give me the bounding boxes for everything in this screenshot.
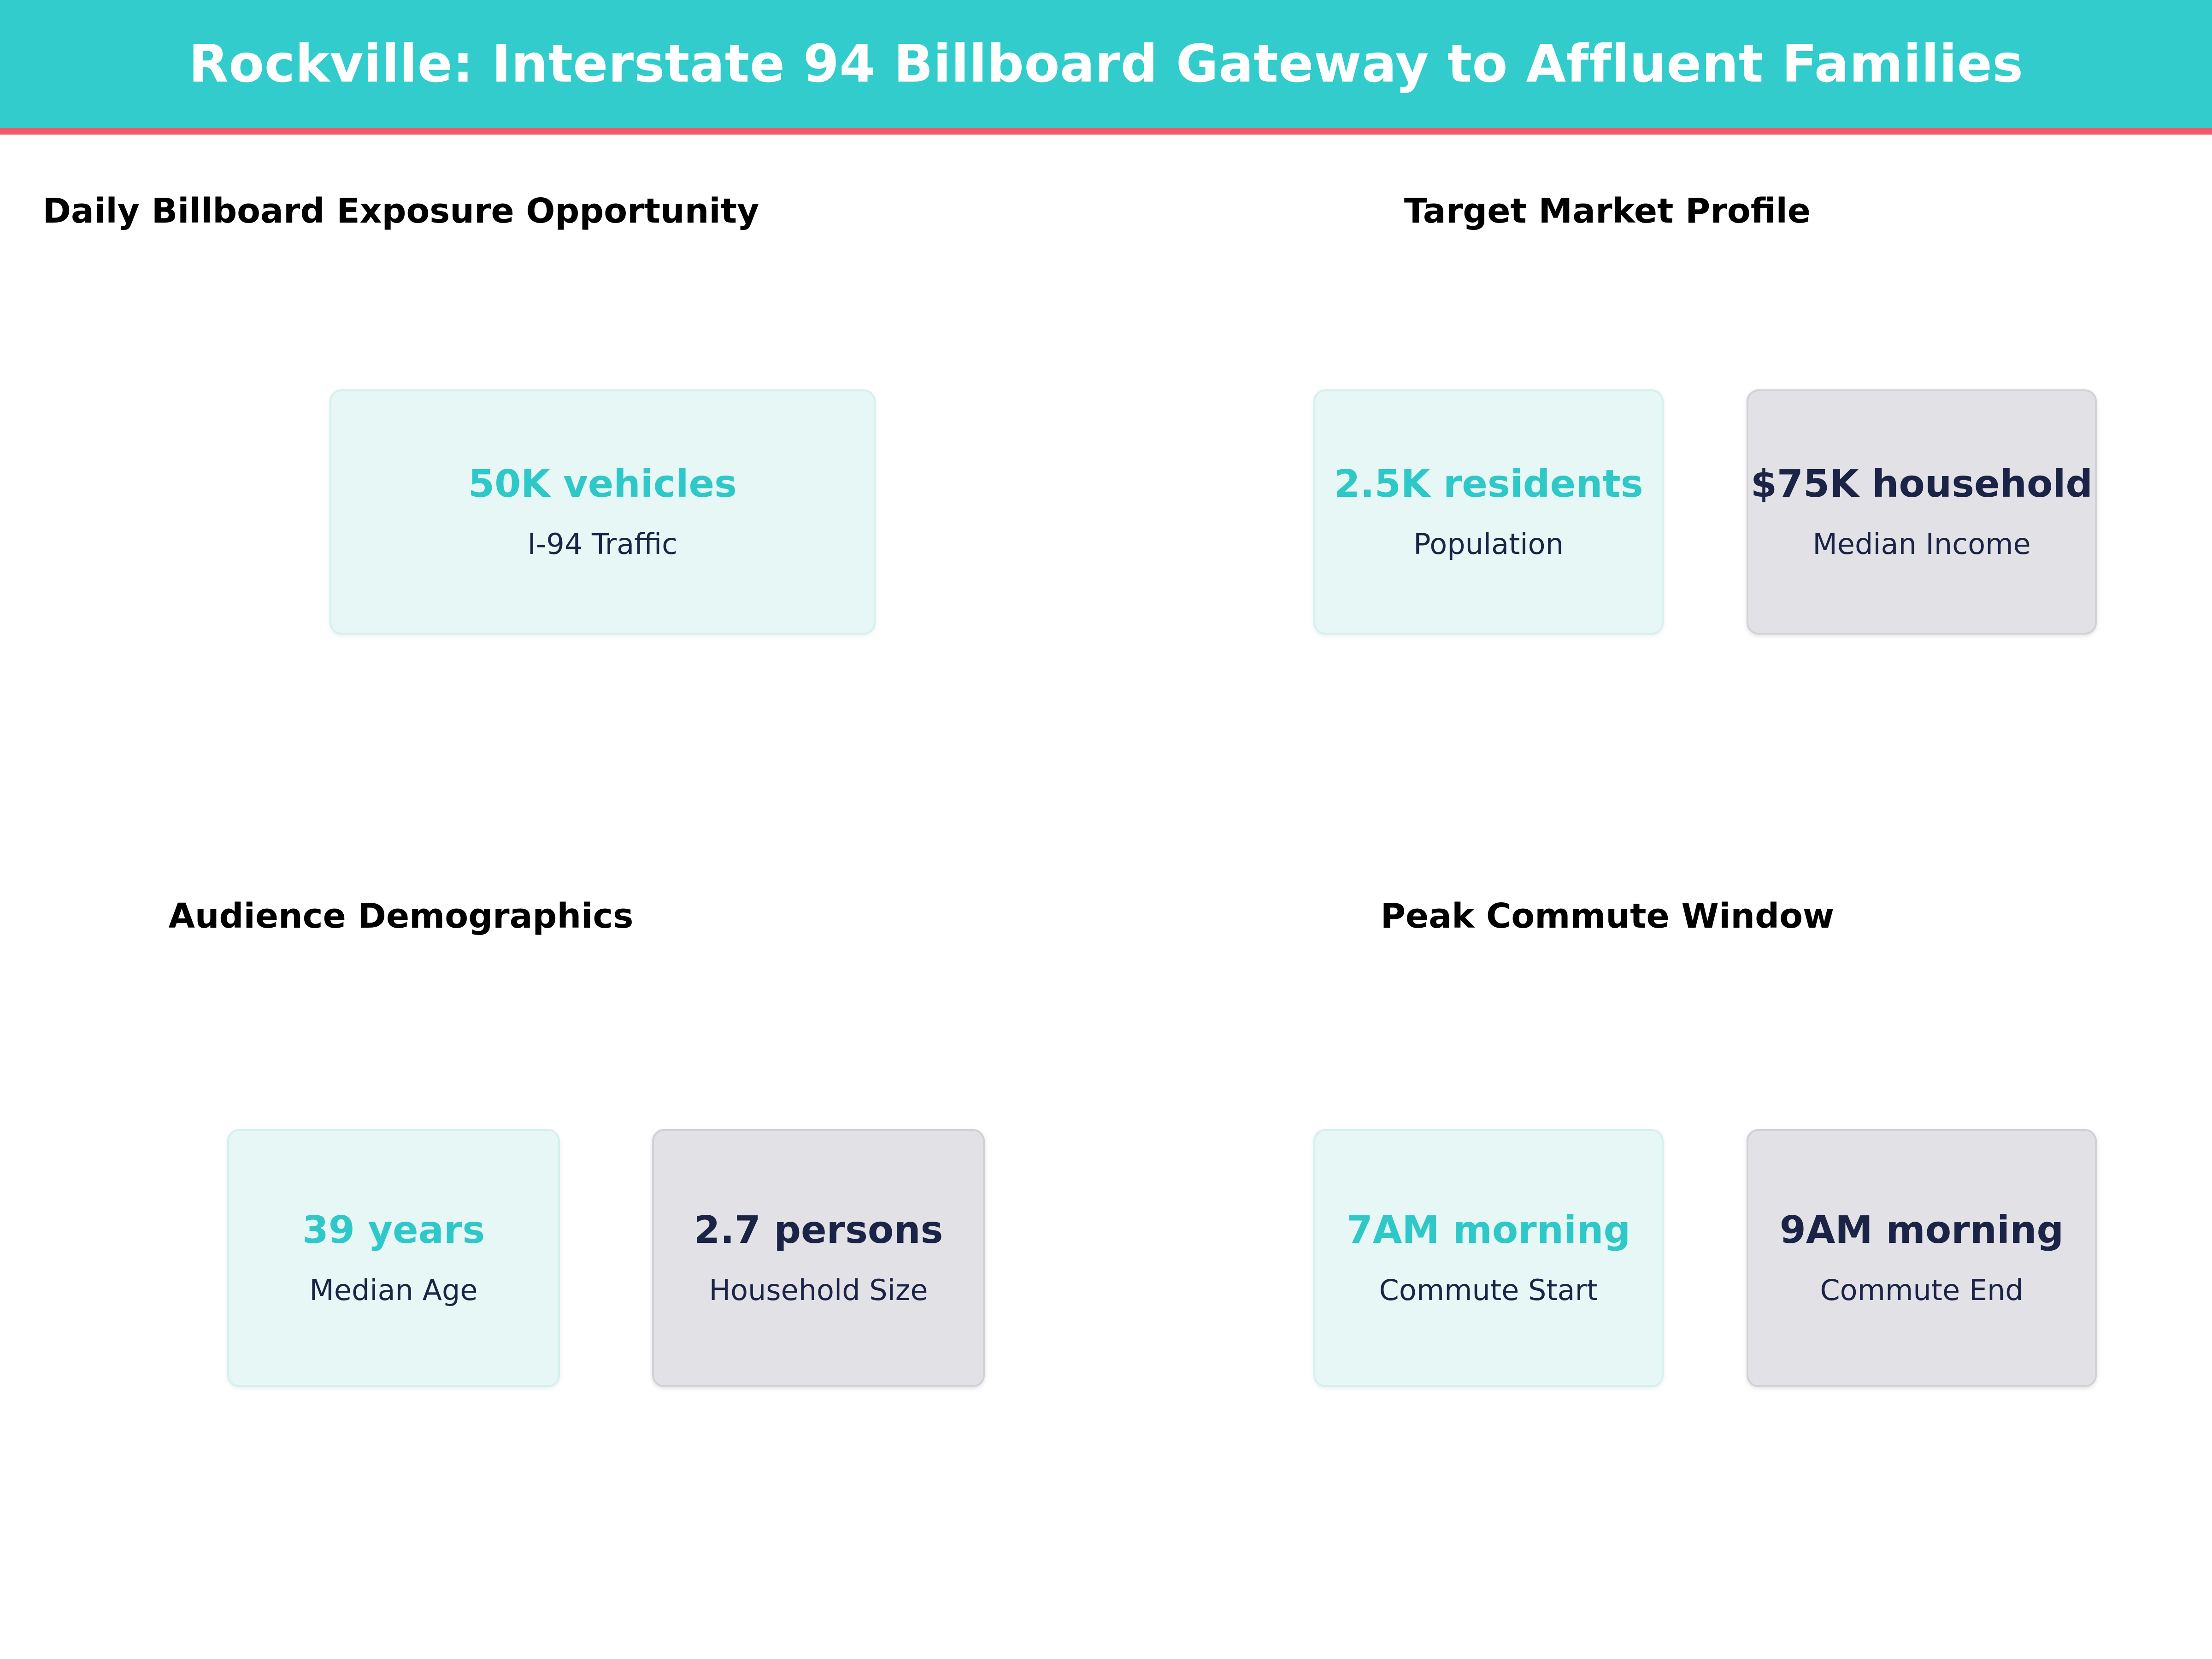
metric-label: I-94 Traffic — [528, 530, 678, 559]
metric-card-household-size[interactable]: 2.7 persons Household Size — [652, 1129, 985, 1387]
page-title: Rockville: Interstate 94 Billboard Gatew… — [189, 38, 2024, 90]
metric-card-median-age[interactable]: 39 years Median Age — [227, 1129, 560, 1387]
panel-audience-demographics: Audience Demographics 39 years Median Ag… — [0, 862, 1106, 1415]
metric-value: 9AM morning — [1780, 1212, 2064, 1249]
panel-peak-commute-window: Peak Commute Window 7AM morning Commute … — [1106, 862, 2212, 1415]
panel-title-exposure: Daily Billboard Exposure Opportunity — [0, 194, 802, 228]
metric-card-commute-start[interactable]: 7AM morning Commute Start — [1313, 1129, 1664, 1387]
header-accent-rule — [0, 128, 2212, 135]
panel-target-market-profile: Target Market Profile 2.5K residents Pop… — [1106, 157, 2212, 710]
card-row-market: 2.5K residents Population $75K household… — [1242, 389, 2168, 635]
panel-title-market: Target Market Profile — [1377, 194, 1838, 228]
metric-card-median-income[interactable]: $75K household Median Income — [1747, 389, 2097, 635]
metric-label: Household Size — [709, 1276, 928, 1305]
panel-title-demographics: Audience Demographics — [0, 899, 802, 933]
metric-card-population[interactable]: 2.5K residents Population — [1313, 389, 1664, 635]
panel-title-commute: Peak Commute Window — [1377, 899, 1838, 933]
metric-card-i94-traffic[interactable]: 50K vehicles I-94 Traffic — [329, 389, 876, 635]
metric-value: $75K household — [1751, 465, 2093, 503]
card-row-commute: 7AM morning Commute Start 9AM morning Co… — [1242, 1129, 2168, 1387]
panel-daily-billboard-exposure: Daily Billboard Exposure Opportunity 50K… — [0, 157, 1106, 710]
metric-value: 39 years — [302, 1212, 485, 1249]
card-row-demographics: 39 years Median Age 2.7 persons Househol… — [226, 1129, 986, 1387]
metric-label: Population — [1413, 530, 1564, 559]
metric-label: Commute Start — [1379, 1276, 1598, 1305]
metric-card-commute-end[interactable]: 9AM morning Commute End — [1747, 1129, 2097, 1387]
metric-label: Median Income — [1812, 530, 2030, 559]
metric-label: Median Age — [309, 1276, 477, 1305]
metric-value: 2.7 persons — [694, 1212, 943, 1249]
metric-value: 2.5K residents — [1334, 465, 1643, 503]
card-row-exposure: 50K vehicles I-94 Traffic — [329, 389, 876, 635]
header-bar: Rockville: Interstate 94 Billboard Gatew… — [0, 0, 2212, 128]
metric-value: 50K vehicles — [468, 465, 737, 503]
metric-label: Commute End — [1820, 1276, 2023, 1305]
metric-value: 7AM morning — [1347, 1212, 1630, 1249]
